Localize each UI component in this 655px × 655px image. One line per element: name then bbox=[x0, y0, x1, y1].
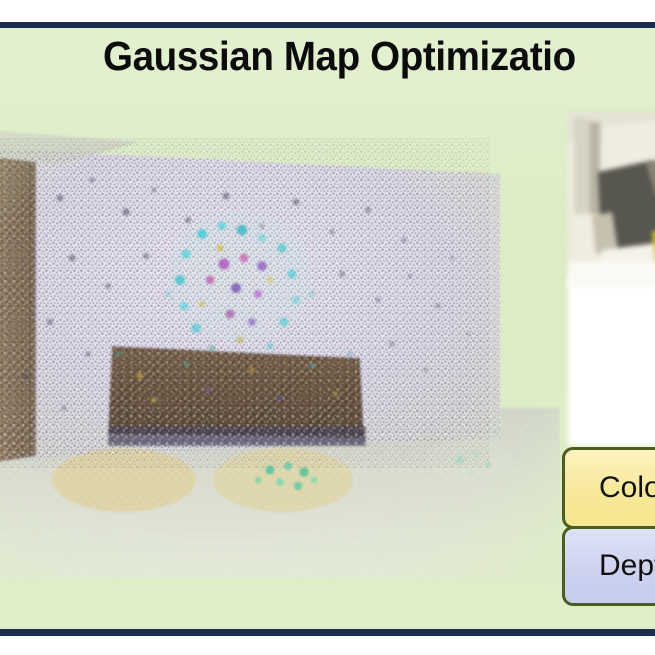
legend-label-color: Colo bbox=[599, 471, 655, 505]
photo-canvas bbox=[568, 112, 655, 287]
page-title: Gaussian Map Optimizatio bbox=[103, 36, 576, 77]
legend-item-depth[interactable]: Dept bbox=[562, 526, 655, 606]
legend-label-depth: Dept bbox=[599, 549, 655, 583]
global-splat-noise bbox=[0, 138, 490, 468]
photo-white-area bbox=[568, 276, 655, 446]
legend-item-color[interactable]: Colo bbox=[562, 447, 655, 529]
slide-root: Gaussian Map Optimizatio Colo Dept bbox=[0, 0, 655, 655]
point-cloud-canvas bbox=[0, 108, 560, 578]
gaussian-point-cloud bbox=[0, 108, 560, 578]
rgb-keyframe-thumbnail bbox=[568, 112, 655, 287]
